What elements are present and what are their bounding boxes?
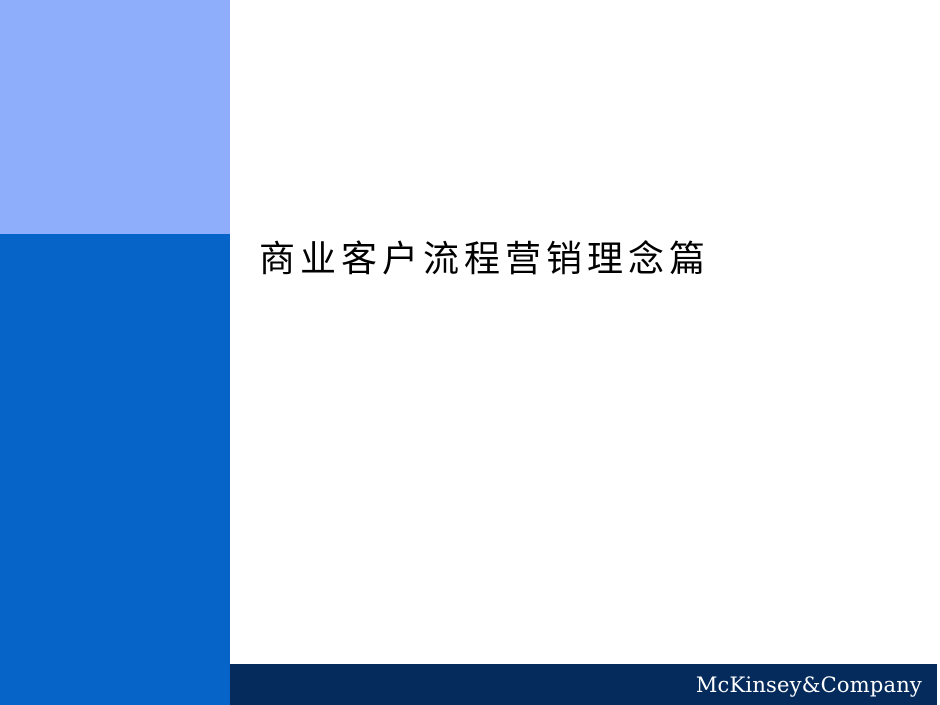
presentation-slide: 商业客户流程营销理念篇 McKinsey&Company [0,0,940,705]
side-color-column [0,0,230,705]
footer-bar: McKinsey&Company [230,664,937,705]
side-block-dark-blue [0,234,230,705]
slide-title: 商业客户流程营销理念篇 [259,238,919,281]
side-block-light-blue [0,0,230,234]
mckinsey-logo: McKinsey&Company [696,673,922,697]
slide-content-area: 商业客户流程营销理念篇 [230,0,940,705]
